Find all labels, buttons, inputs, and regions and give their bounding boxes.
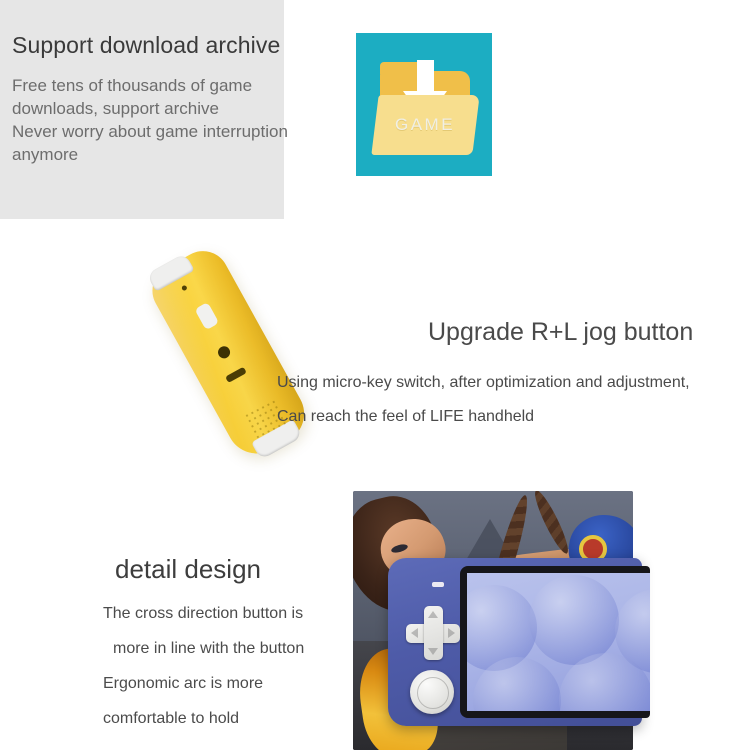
game-download-icon: GAME — [356, 33, 492, 176]
analog-stick[interactable] — [410, 670, 454, 714]
download-archive-body-line-3: Never worry about game interruption — [12, 120, 284, 143]
jog-button-body-line-1: Using micro-key switch, after optimizati… — [277, 374, 690, 392]
download-archive-body-line-1: Free tens of thousands of game — [12, 74, 284, 97]
detail-design-body-line-4: comfortable to hold — [103, 701, 353, 736]
dpad-left-arrow-icon — [411, 628, 418, 638]
detail-design-body-line-3: Ergonomic arc is more — [103, 666, 353, 701]
detail-design-body-line-1: The cross direction button is — [103, 596, 353, 631]
product-detail-page: Support download archive Free tens of th… — [0, 0, 750, 750]
jog-button-body-line-2: Can reach the feel of LIFE handheld — [277, 408, 534, 426]
dpad-right-arrow-icon — [448, 628, 455, 638]
download-archive-body-line-2: downloads, support archive — [12, 97, 284, 120]
folder-label: GAME — [395, 115, 455, 135]
download-archive-body-line-4: anymore — [12, 143, 284, 166]
jog-button-title: Upgrade R+L jog button — [428, 318, 693, 347]
dpad-down-arrow-icon — [428, 648, 438, 655]
blue-handheld-console — [388, 558, 642, 726]
dpad-up-arrow-icon — [428, 611, 438, 618]
download-archive-body: Free tens of thousands of game downloads… — [12, 74, 284, 166]
power-led-indicator — [432, 582, 444, 587]
yellow-device-photo — [175, 228, 440, 473]
detail-design-body-line-2: more in line with the button — [103, 631, 353, 666]
cross-direction-button[interactable] — [406, 606, 460, 660]
detail-design-body: The cross direction button is more in li… — [103, 596, 353, 736]
download-archive-title: Support download archive — [12, 32, 280, 59]
yellow-handheld-top-edge — [143, 242, 315, 464]
detail-design-title: detail design — [115, 554, 261, 585]
screen-bubble — [529, 575, 619, 665]
console-screen-bezel — [460, 566, 650, 718]
console-screen — [467, 573, 650, 711]
folder-front-icon: GAME — [371, 95, 479, 155]
